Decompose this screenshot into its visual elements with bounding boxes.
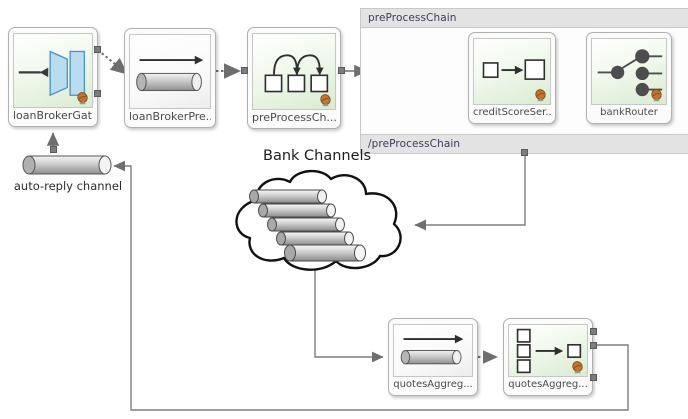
node-caption: quotesAggreg... (508, 377, 588, 393)
channel-pipe-arrow-icon (129, 34, 211, 109)
chain-three-squares-icon (252, 33, 336, 110)
aggregator-icon (508, 324, 588, 377)
gateway-funnel-icon (13, 33, 93, 108)
coffee-bean-badge (76, 92, 89, 105)
node-quotesaggregator[interactable]: quotesAggreg... (503, 318, 593, 396)
coffee-bean-badge (534, 89, 547, 102)
router-node-link-icon (591, 38, 667, 105)
preprocess-port-right[interactable] (338, 67, 345, 74)
auto-reply-channel-shape[interactable] (20, 152, 116, 178)
coffee-bean-badge (319, 94, 332, 107)
node-caption: creditScoreSer... (473, 105, 551, 121)
node-bankrouter[interactable]: bankRouter (586, 32, 672, 124)
bank-channels-label: Bank Channels (263, 148, 371, 164)
coffee-bean-badge (571, 361, 584, 374)
gateway-port-top[interactable] (94, 46, 101, 53)
node-preprocesschain[interactable]: preProcessCh... (247, 27, 341, 129)
node-caption: bankRouter (591, 105, 667, 121)
aggregator-port-mid[interactable] (590, 342, 597, 349)
node-loanbrokergateway[interactable]: loanBrokerGat... (8, 27, 98, 127)
node-caption: loanBrokerGat... (13, 108, 93, 124)
group-header-label: preProcessChain (361, 9, 688, 28)
aggregator-port-bottom[interactable] (590, 374, 597, 381)
preprocess-port-left[interactable] (241, 67, 248, 74)
aggregator-port-top[interactable] (590, 328, 597, 335)
node-caption: preProcessCh... (252, 110, 336, 126)
node-loanbrokerpre[interactable]: loanBrokerPre... (124, 28, 216, 128)
auto-reply-channel-label: auto-reply channel (8, 179, 128, 193)
node-caption: quotesAggreg... (393, 377, 473, 393)
auto-reply-source-port[interactable] (50, 146, 57, 153)
service-square-arrow-square-icon (473, 38, 551, 105)
bank-channels-cloud[interactable] (212, 166, 417, 276)
channel-pipe-arrow-icon (393, 324, 473, 377)
gateway-port-bottom[interactable] (94, 90, 101, 97)
node-caption: loanBrokerPre... (129, 109, 211, 125)
group-bottom-port[interactable] (521, 149, 528, 156)
node-creditscoreservice[interactable]: creditScoreSer... (468, 32, 556, 124)
coffee-bean-badge (650, 89, 663, 102)
diagram-canvas: preProcessChain /preProcessChain loanBro… (0, 0, 688, 419)
node-quotesaggregator-channel[interactable]: quotesAggreg... (388, 318, 478, 396)
